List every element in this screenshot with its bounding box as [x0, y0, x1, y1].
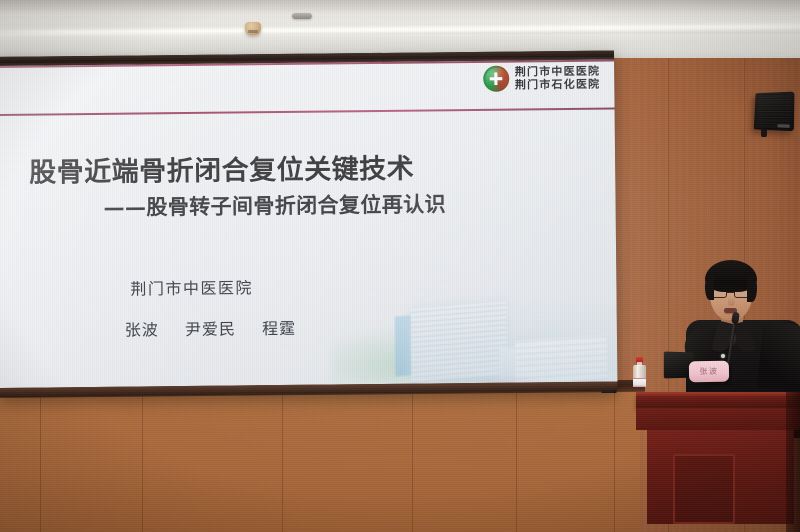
- podium: [636, 392, 800, 532]
- hospital-name-line-1: 荆门市中医医院: [515, 65, 601, 78]
- slide-surface: 荆门市中医医院 荆门市石化医院 股骨近端骨折闭合复位关键技术 ——股骨转子间骨折…: [0, 60, 617, 388]
- slide-authors: 张波 尹爱民 程霆: [125, 315, 296, 341]
- presenter-hair-left: [705, 274, 714, 300]
- speaker-grille: [757, 95, 792, 128]
- podium-shadow-right: [786, 392, 800, 532]
- podium-top-surface: [636, 392, 800, 408]
- hospital-logo-text: 荆门市中医医院 荆门市石化医院: [515, 65, 601, 91]
- name-card-text: 张波: [699, 366, 718, 377]
- lapel-pin-icon: [721, 354, 725, 358]
- wainscot-seam: [516, 392, 517, 532]
- slide-hospital-logo: 荆门市中医医院 荆门市石化医院: [483, 65, 601, 92]
- author-name: 尹爱民: [185, 319, 236, 339]
- wainscot-seam: [40, 392, 41, 532]
- slide-accent-rule-mid: [0, 108, 615, 116]
- wainscot-seam: [614, 392, 615, 532]
- presenter-hair-right: [747, 274, 757, 302]
- smoke-detector-icon: [245, 22, 261, 35]
- wainscot-seam: [142, 392, 143, 532]
- wainscot-seam: [282, 392, 283, 532]
- slide-title: 股骨近端骨折闭合复位关键技术: [29, 152, 549, 189]
- author-name: 张波: [125, 320, 159, 339]
- hospital-building-photo: [322, 265, 617, 388]
- building-main-tower: [411, 301, 508, 383]
- bottle-body: [633, 365, 646, 385]
- podium-name-card: 张波: [689, 361, 729, 383]
- hospital-cross-logo-icon: [483, 66, 509, 92]
- slide-organization: 荆门市中医医院: [130, 274, 253, 299]
- wainscot-panel: [0, 392, 640, 532]
- author-name: 程霆: [262, 319, 296, 338]
- wainscot-seam: [412, 392, 413, 532]
- projection-screen: 荆门市中医医院 荆门市石化医院 股骨近端骨折闭合复位关键技术 ——股骨转子间骨折…: [0, 51, 618, 397]
- water-bottle-icon: [633, 357, 646, 385]
- speaker-badge: [777, 124, 789, 128]
- hospital-name-line-2: 荆门市石化医院: [515, 78, 601, 91]
- conference-photo-scene: 荆门市中医医院 荆门市石化医院 股骨近端骨折闭合复位关键技术 ——股骨转子间骨折…: [0, 0, 800, 532]
- podium-front-panel: [673, 454, 735, 524]
- podium-apron: [636, 408, 800, 430]
- presenter-shoulder-right: [757, 322, 800, 392]
- bottle-label: [633, 378, 646, 387]
- wall-speaker-icon: [754, 92, 795, 132]
- podium-top-edge: [636, 392, 800, 396]
- slide-subtitle: ——股骨转子间骨折闭合复位再认识: [103, 190, 563, 221]
- ceiling-shadow: [0, 0, 800, 14]
- recessed-light-icon: [292, 13, 312, 19]
- glasses-bridge: [727, 292, 734, 293]
